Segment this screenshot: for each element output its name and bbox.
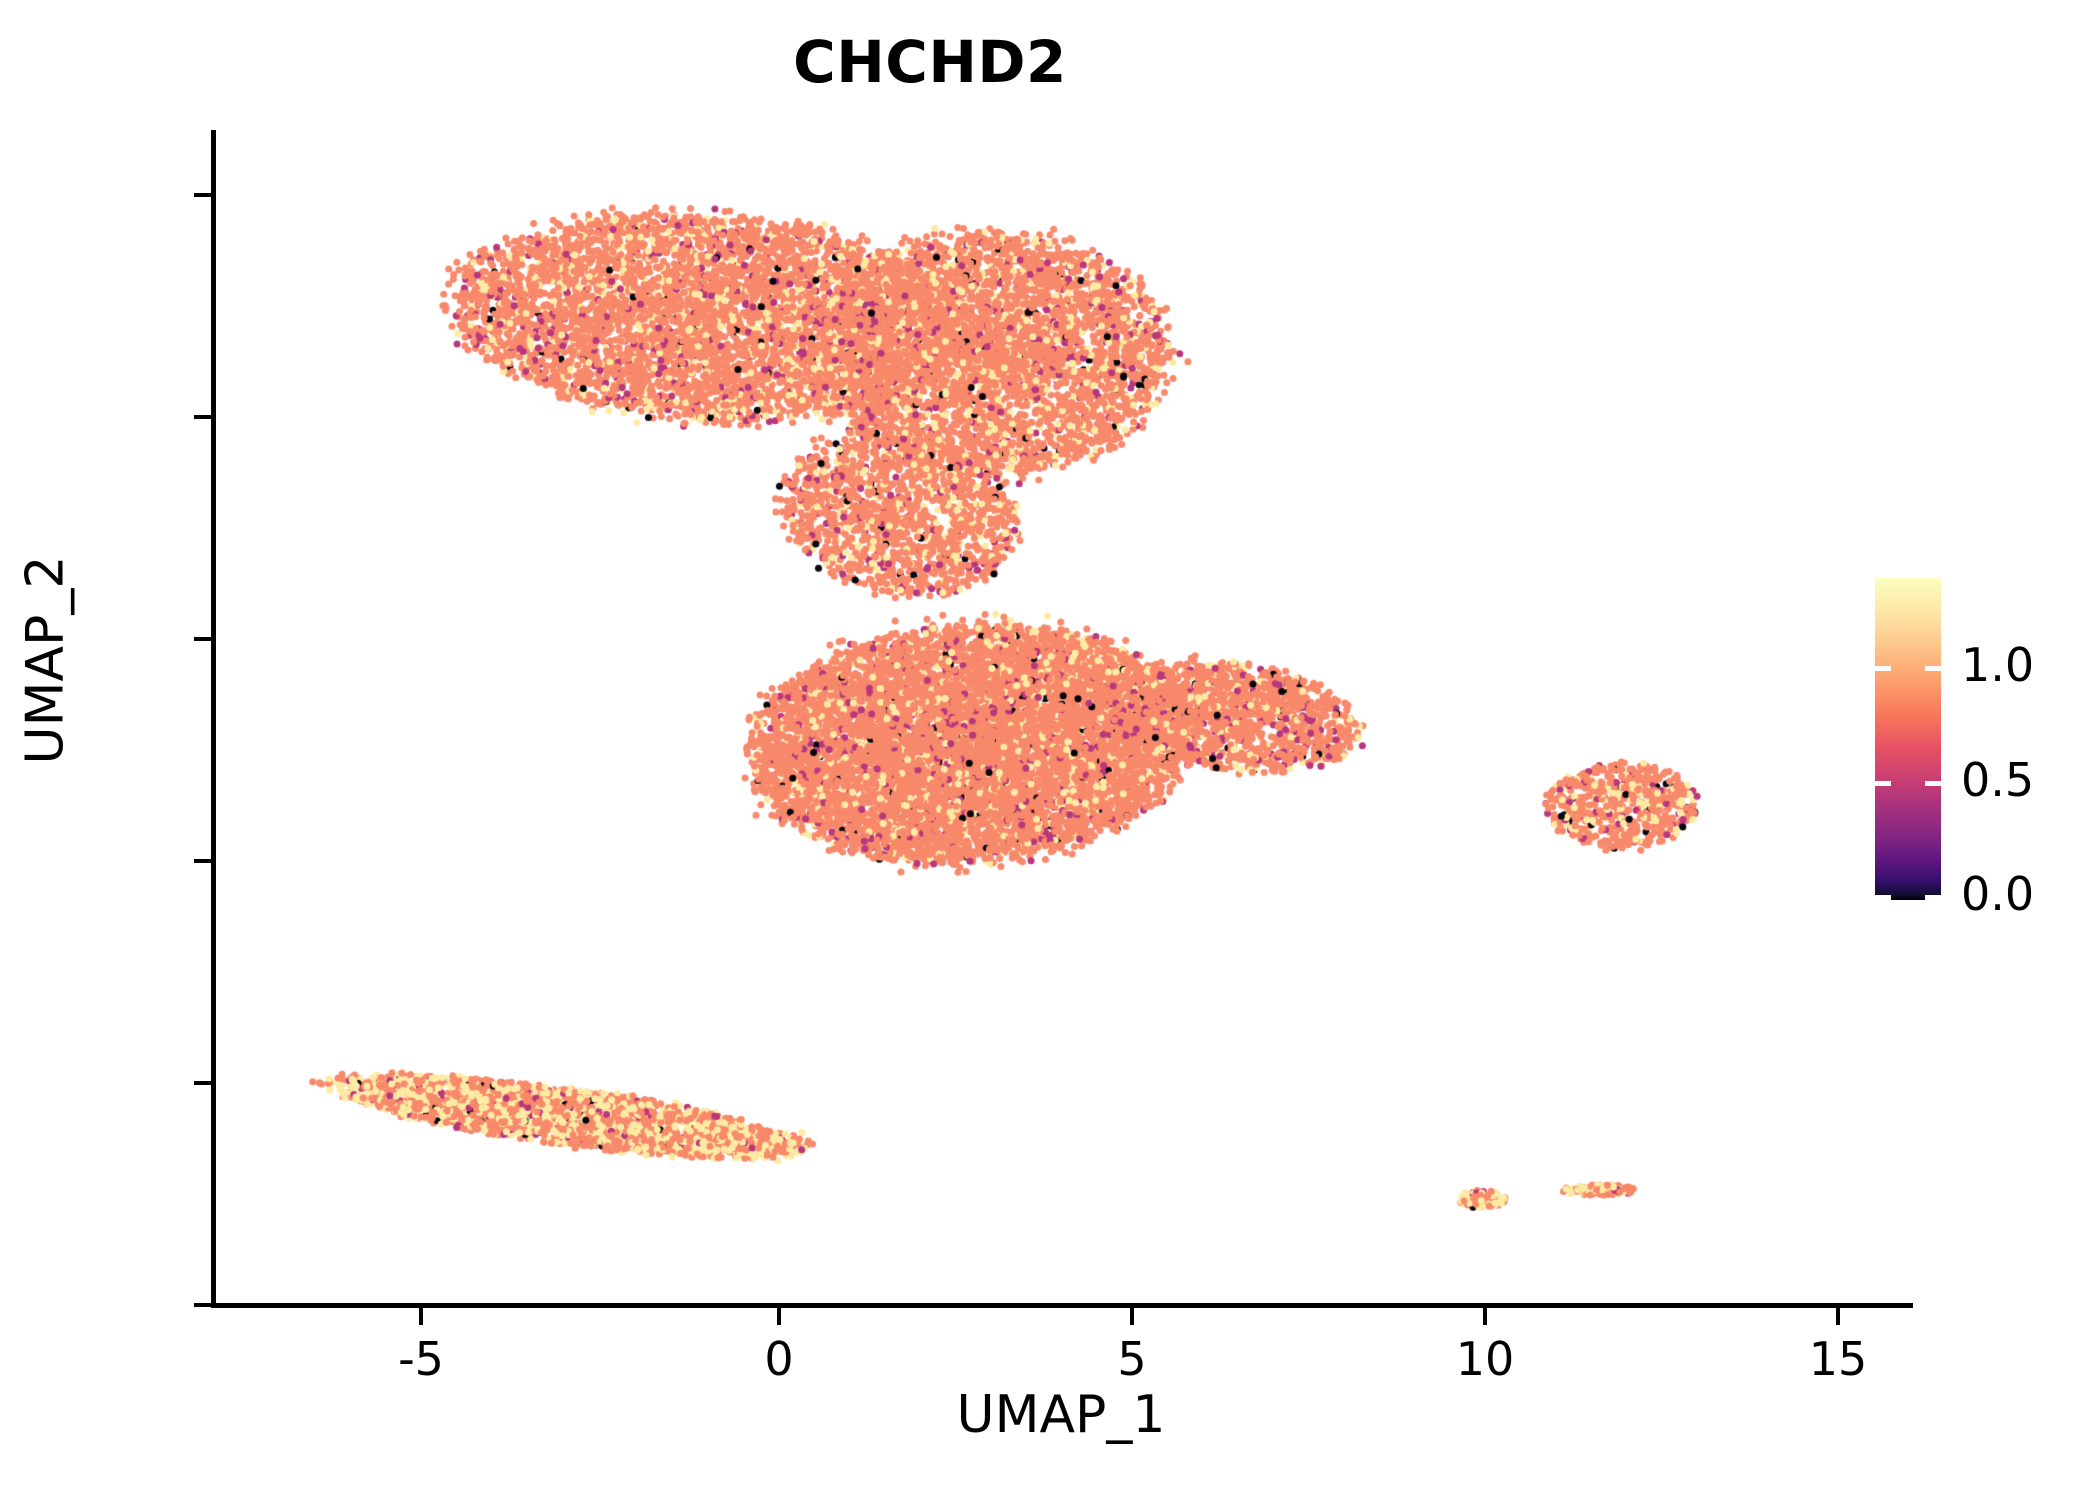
y-tick-mark-0: [194, 1081, 211, 1085]
x-tick-label-neg5: -5: [321, 1332, 521, 1386]
colorbar-tick-label-0.5: 0.5: [1961, 753, 2034, 807]
y-tick-mark-neg5: [194, 1303, 211, 1307]
colorbar: 1.0 0.5 0.0: [1875, 578, 1941, 900]
x-tick-mark-5: [1130, 1307, 1134, 1325]
colorbar-gradient: [1875, 578, 1941, 900]
x-tick-label-5: 5: [1032, 1332, 1232, 1386]
x-tick-mark-10: [1483, 1307, 1487, 1325]
x-tick-label-10: 10: [1385, 1332, 1585, 1386]
x-tick-mark-0: [777, 1307, 781, 1325]
colorbar-tick-0.0-left: [1875, 895, 1891, 900]
colorbar-tick-0.5-left: [1875, 781, 1891, 786]
colorbar-tick-0.0-right: [1925, 895, 1941, 900]
page-title: CHCHD2: [0, 28, 1860, 96]
colorbar-tick-0.5-right: [1925, 781, 1941, 786]
colorbar-tick-1.0-right: [1925, 666, 1941, 671]
colorbar-tick-label-1.0: 1.0: [1961, 638, 2034, 692]
y-axis-spine: [211, 130, 216, 1308]
y-tick-mark-5: [194, 859, 211, 863]
y-axis-label: UMAP_2: [15, 556, 75, 765]
x-axis-spine: [211, 1303, 1913, 1308]
figure-canvas: CHCHD2 20 15 10 5 0 -5 -5 0 5 10 15 UMAP…: [0, 0, 2100, 1500]
y-tick-mark-15: [194, 415, 211, 419]
x-tick-mark-15: [1836, 1307, 1840, 1325]
y-axis-label-wrap: UMAP_2: [0, 630, 495, 690]
x-tick-mark-neg5: [419, 1307, 423, 1325]
colorbar-tick-1.0-left: [1875, 666, 1891, 671]
colorbar-tick-label-0.0: 0.0: [1961, 867, 2034, 921]
x-tick-label-15: 15: [1738, 1332, 1938, 1386]
x-axis-label: UMAP_1: [211, 1385, 1911, 1445]
x-tick-label-0: 0: [679, 1332, 879, 1386]
y-tick-mark-20: [194, 193, 211, 197]
plot-axes-area: [211, 130, 1911, 1305]
